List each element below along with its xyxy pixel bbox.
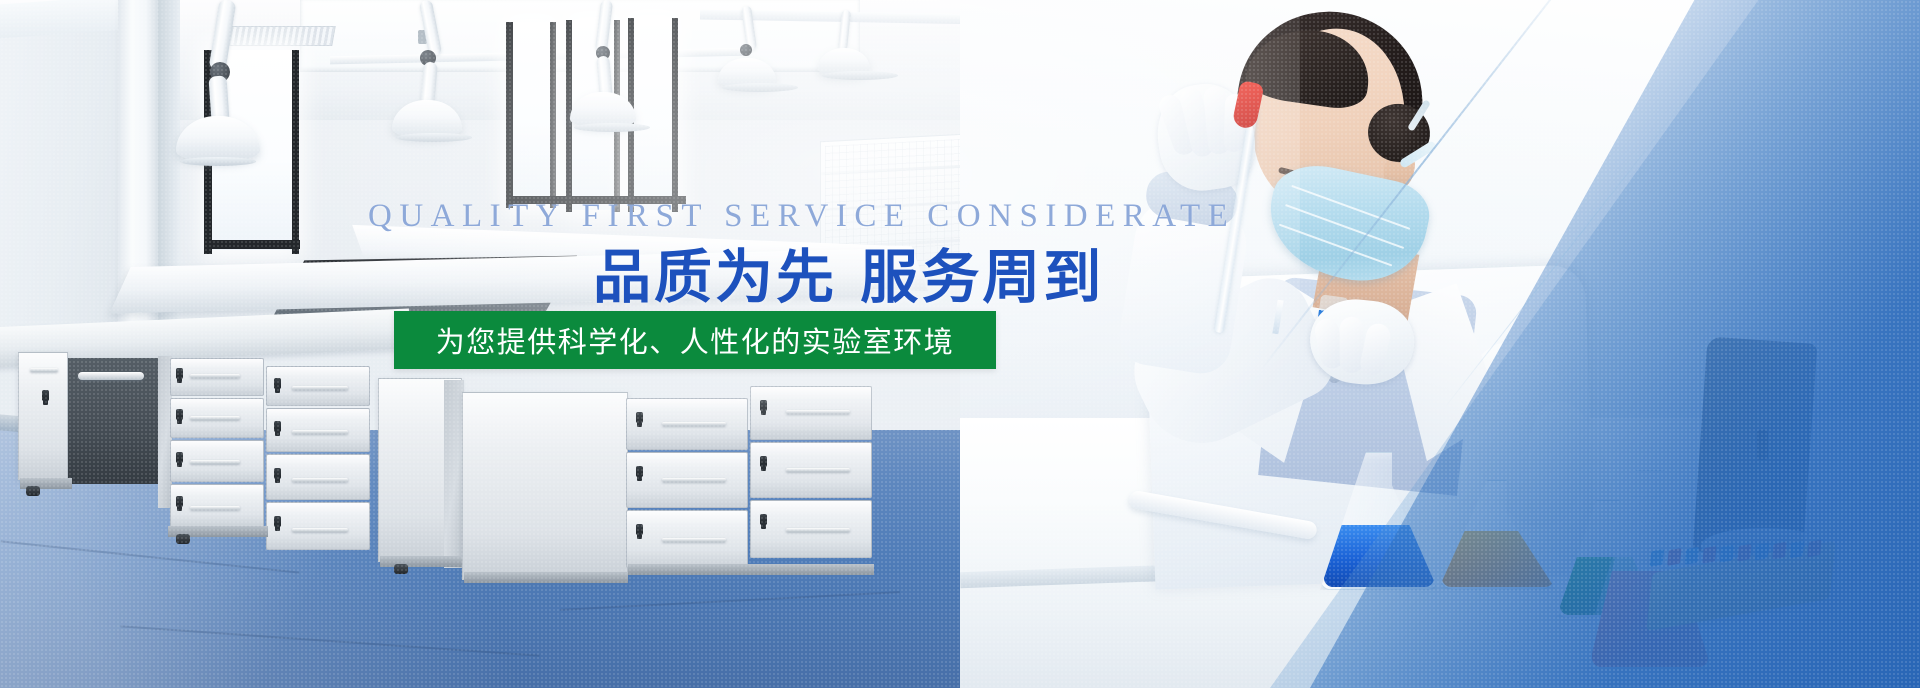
banner-subtitle: 为您提供科学化、人性化的实验室环境 [436, 319, 955, 361]
banner-text-layer: QUALITY FIRST SERVICE CONSIDERATE 品质为先 服… [0, 0, 1920, 688]
subtitle-green-bar: 为您提供科学化、人性化的实验室环境 [394, 311, 996, 369]
hero-banner: QUALITY FIRST SERVICE CONSIDERATE 品质为先 服… [0, 0, 1920, 688]
english-tagline: QUALITY FIRST SERVICE CONSIDERATE [368, 200, 1028, 233]
banner-headline: 品质为先 服务周到 [593, 247, 1104, 308]
